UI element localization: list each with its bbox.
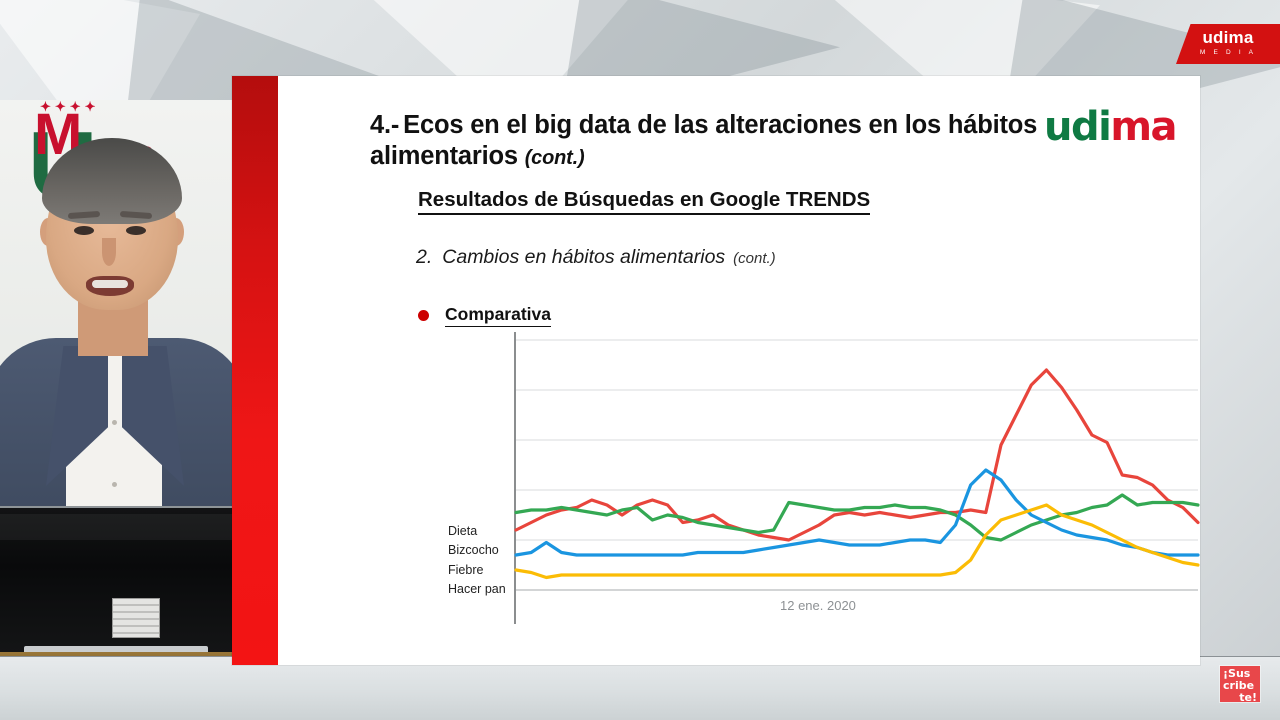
slide-content: udima 4.-Ecos en el big data de las alte… (278, 76, 1200, 665)
bullet-label: Comparativa (445, 304, 551, 327)
watermark-brand: udima (1176, 28, 1280, 48)
monitor-reflection (112, 598, 160, 638)
bullet-dot-icon (418, 310, 429, 321)
studio-desk (0, 652, 232, 656)
shirt-button (112, 482, 117, 487)
slide-title-number: 4.- (370, 111, 399, 139)
google-trends-chart[interactable]: Dieta Bizcocho Fiebre Hacer pan 12 ene. … (408, 332, 1200, 652)
backdrop-shelf (0, 656, 1280, 720)
presentation-slide[interactable]: udima 4.-Ecos en el big data de las alte… (232, 76, 1200, 665)
presenter-eye (126, 226, 146, 235)
slide-list-item: 2.Cambios en hábitos alimentarios(cont.) (416, 246, 776, 269)
presenter-video[interactable]: ✦✦✦✦ U M dima DISTANCIA U E U M (0, 100, 232, 656)
list-item-text: Cambios en hábitos alimentarios (442, 246, 725, 268)
slide-title: 4.-Ecos en el big data de las alteracion… (370, 110, 1070, 172)
subscribe-line-3: te! (1223, 692, 1257, 704)
shirt-button (112, 420, 117, 425)
subscribe-badge[interactable]: ¡Sus cribe te! (1220, 666, 1260, 702)
chart-x-axis-label: 12 ene. 2020 (780, 598, 856, 613)
slide-bullet: Comparativa (418, 304, 551, 327)
presenter-eye (74, 226, 94, 235)
chart-series-bizcocho (516, 495, 1198, 540)
screen-capture: ✦✦✦✦ U M dima DISTANCIA U E U M (0, 0, 1280, 720)
list-item-cont: (cont.) (733, 250, 776, 267)
subscribe-line-1: ¡Sus (1223, 668, 1257, 680)
slide-accent-bar (232, 76, 278, 665)
list-item-index: 2. (416, 246, 432, 268)
presenter-nose (102, 238, 116, 266)
chart-plot-area (408, 332, 1200, 632)
monitor-glare (0, 514, 232, 540)
studio-monitor (0, 506, 232, 654)
subscribe-line-2: cribe (1223, 680, 1257, 692)
slide-title-cont: (cont.) (525, 147, 585, 169)
chart-series-dieta (516, 370, 1198, 540)
chart-series-hacer-pan (516, 505, 1198, 578)
slide-subtitle: Resultados de Búsquedas en Google TRENDS (418, 188, 870, 215)
presenter-teeth (92, 280, 128, 288)
udima-media-watermark: udima M E D I A (1176, 24, 1280, 64)
slide-title-text: Ecos en el big data de las alteraciones … (370, 111, 1037, 170)
udima-logo-red: ma (1110, 104, 1176, 150)
watermark-sub: M E D I A (1176, 49, 1280, 56)
